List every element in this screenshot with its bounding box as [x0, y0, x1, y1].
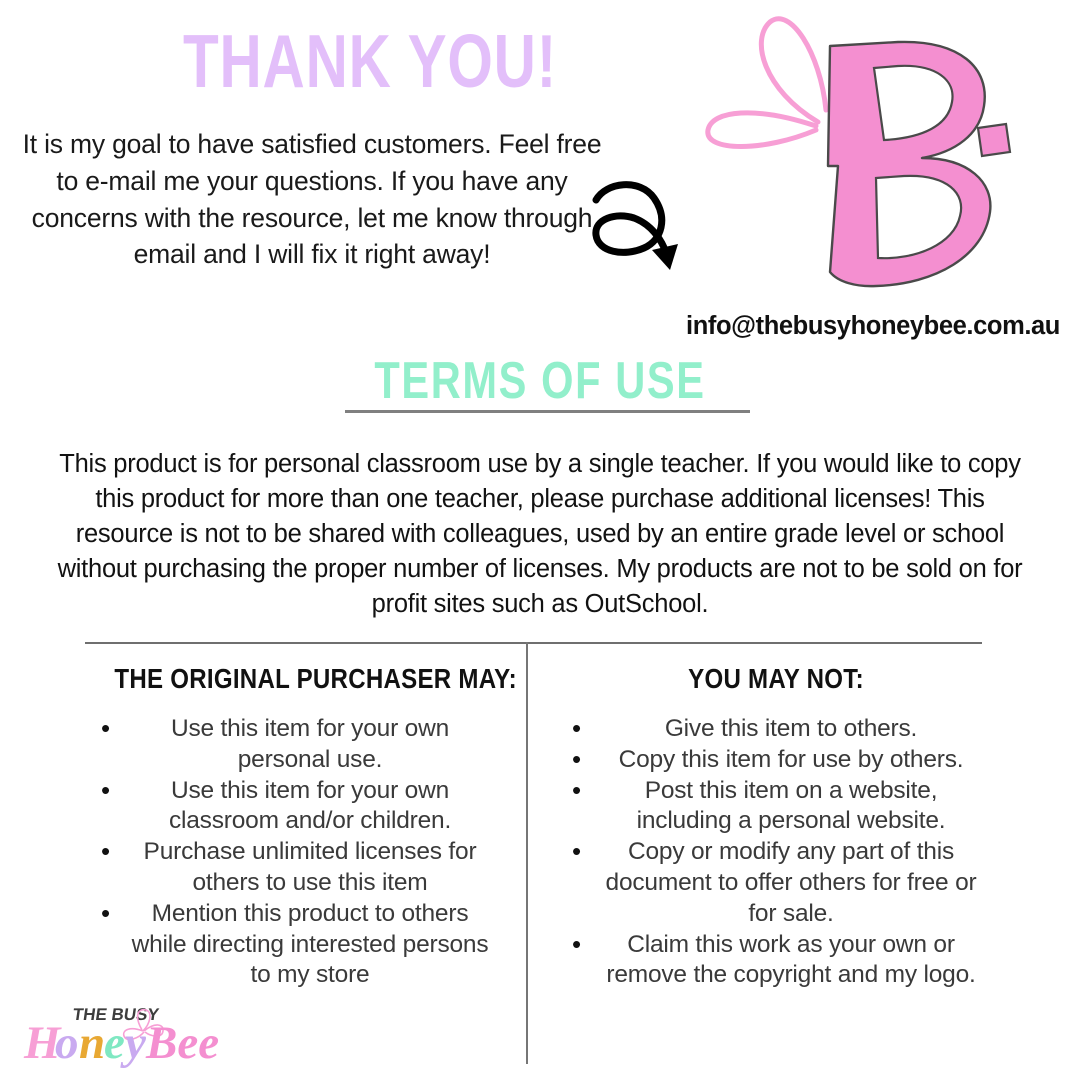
horizontal-divider — [85, 642, 982, 644]
thank-you-heading: THANK YOU! — [167, 18, 573, 104]
bullet-list-may: Use this item for your own personal use.… — [85, 714, 505, 991]
column-purchaser-may: THE ORIGINAL PURCHASER MAY: Use this ite… — [85, 662, 505, 991]
logo-letter-o: o — [55, 1017, 79, 1069]
column-you-may-not: YOU MAY NOT: Give this item to others. C… — [556, 662, 996, 991]
terms-of-use-heading: TERMS OF USE — [374, 354, 705, 408]
list-item: Purchase unlimited licenses for others t… — [85, 837, 505, 899]
column-title-may: THE ORIGINAL PURCHASER MAY: — [114, 662, 475, 696]
terms-title-underline — [345, 410, 750, 413]
list-item: Copy this item for use by others. — [556, 745, 996, 776]
brand-monogram-b-logo — [660, 6, 1060, 316]
list-item: Copy or modify any part of this document… — [556, 837, 996, 929]
list-item: Use this item for your own classroom and… — [85, 776, 505, 838]
terms-title-wrapper: TERMS OF USE — [0, 354, 1080, 408]
logo-letter-n: n — [79, 1017, 105, 1069]
the-busy-honey-bee-logo: THE BUSY H o n e y Bee — [22, 1000, 227, 1078]
terms-paragraph: This product is for personal classroom u… — [50, 447, 1030, 622]
list-item: Post this item on a website, including a… — [556, 776, 996, 838]
list-item: Claim this work as your own or remove th… — [556, 930, 996, 992]
logo-word-bee: Bee — [145, 1017, 219, 1069]
contact-email[interactable]: info@thebusyhoneybee.com.au — [560, 312, 1060, 341]
list-item: Mention this product to others while dir… — [85, 899, 505, 991]
column-title-may-not: YOU MAY NOT: — [587, 662, 965, 696]
list-item: Give this item to others. — [556, 714, 996, 745]
vertical-divider — [526, 642, 528, 1064]
logo-letter-e: e — [104, 1017, 125, 1069]
list-item: Use this item for your own personal use. — [85, 714, 505, 776]
bullet-list-may-not: Give this item to others. Copy this item… — [556, 714, 996, 991]
thank-you-body-text: It is my goal to have satisfied customer… — [22, 126, 602, 273]
